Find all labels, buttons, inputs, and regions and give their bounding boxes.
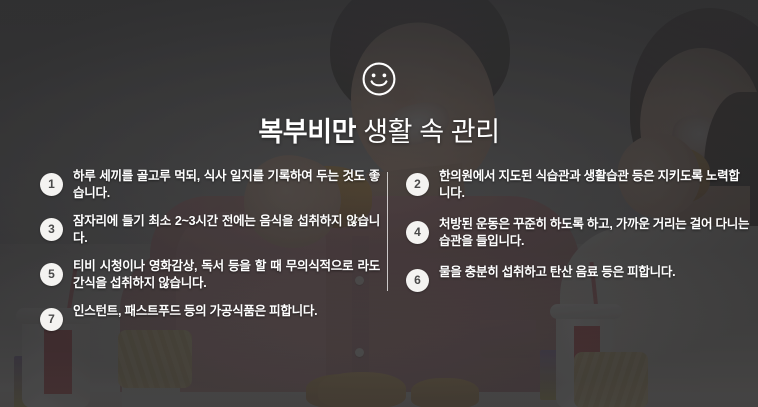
list-item-text: 물을 충분히 섭취하고 탄산 음료 등은 피합니다. <box>439 264 750 281</box>
list-item-text: 잠자리에 들기 최소 2~3시간 전에는 음식을 섭취하지 않습니다. <box>73 213 380 247</box>
page-title-strong: 복부비만 <box>258 117 356 147</box>
list-item-number: 5 <box>40 263 63 286</box>
tips-column-left: 1 하루 세끼를 골고루 먹되, 식사 일지를 기록하여 두는 것도 좋습니다.… <box>40 168 380 342</box>
list-item-number: 1 <box>40 173 63 196</box>
tips-column-right: 2 한의원에서 지도된 식습관과 생활습관 등은 지키도록 노력합니다. 4 처… <box>406 168 750 306</box>
smiley-face-icon <box>362 62 396 96</box>
column-divider <box>387 172 388 291</box>
page-title-light: 생활 속 관리 <box>363 117 499 147</box>
list-item-number: 3 <box>40 218 63 241</box>
list-item-number: 4 <box>406 221 429 244</box>
list-item-text: 한의원에서 지도된 식습관과 생활습관 등은 지키도록 노력합니다. <box>439 168 750 202</box>
list-item: 7 인스턴트, 패스트푸드 등의 가공식품은 피합니다. <box>40 303 380 331</box>
list-item-text: 하루 세끼를 골고루 먹되, 식사 일지를 기록하여 두는 것도 좋습니다. <box>73 168 380 202</box>
list-item: 2 한의원에서 지도된 식습관과 생활습관 등은 지키도록 노력합니다. <box>406 168 750 202</box>
list-item: 5 티비 시청이나 영화감상, 독서 등을 할 때 무의식적으로 라도 간식을 … <box>40 258 380 292</box>
list-item: 1 하루 세끼를 골고루 먹되, 식사 일지를 기록하여 두는 것도 좋습니다. <box>40 168 380 202</box>
banner-content: 복부비만 생활 속 관리 1 하루 세끼를 골고루 먹되, 식사 일지를 기록하… <box>0 0 758 407</box>
list-item-number: 2 <box>406 173 429 196</box>
list-item-number: 6 <box>406 269 429 292</box>
page-title: 복부비만 생활 속 관리 <box>0 115 758 149</box>
abdominal-obesity-care-banner: 복부비만 생활 속 관리 1 하루 세끼를 골고루 먹되, 식사 일지를 기록하… <box>0 0 758 407</box>
list-item-text: 인스턴트, 패스트푸드 등의 가공식품은 피합니다. <box>73 303 380 320</box>
list-item: 6 물을 충분히 섭취하고 탄산 음료 등은 피합니다. <box>406 264 750 292</box>
list-item-number: 7 <box>40 308 63 331</box>
list-item: 3 잠자리에 들기 최소 2~3시간 전에는 음식을 섭취하지 않습니다. <box>40 213 380 247</box>
list-item: 4 처방된 운동은 꾸준히 하도록 하고, 가까운 거리는 걸어 다니는습관을 … <box>406 216 750 250</box>
list-item-text: 티비 시청이나 영화감상, 독서 등을 할 때 무의식적으로 라도 간식을 섭취… <box>73 258 380 292</box>
list-item-text: 처방된 운동은 꾸준히 하도록 하고, 가까운 거리는 걸어 다니는습관을 들입… <box>439 216 750 250</box>
